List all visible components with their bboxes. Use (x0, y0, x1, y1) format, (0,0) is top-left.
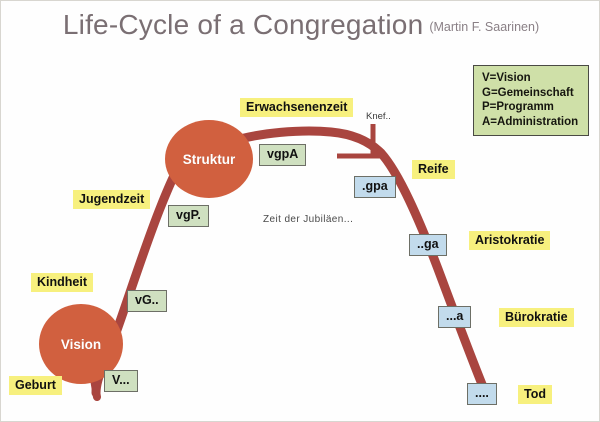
code-box-v[interactable]: V... (104, 370, 138, 392)
stage-circle-vision-label: Vision (61, 337, 101, 352)
annotation-jubilaen: Zeit der Jubiläen... (263, 214, 353, 225)
phase-label-tod[interactable]: Tod (518, 385, 552, 404)
legend-box: V=Vision G=Gemeinschaft P=Programm A=Adm… (473, 65, 589, 136)
phase-label-aristokratie[interactable]: Aristokratie (469, 231, 550, 250)
code-box-none[interactable]: .... (467, 383, 497, 405)
phase-label-kindheit[interactable]: Kindheit (31, 273, 93, 292)
stage-circle-struktur-label: Struktur (183, 152, 236, 167)
phase-label-reife[interactable]: Reife (412, 160, 455, 179)
diagram-canvas: Life-Cycle of a Congregation(Martin F. S… (0, 0, 600, 422)
phase-label-geburt[interactable]: Geburt (9, 376, 62, 395)
legend-line-vision: V=Vision (482, 71, 581, 86)
curve-descending-segment (381, 153, 488, 399)
code-box-ga[interactable]: ..ga (409, 234, 447, 256)
code-box-vgp[interactable]: vgP. (168, 205, 209, 227)
legend-line-programm: P=Programm (482, 100, 581, 115)
phase-label-jugendzeit[interactable]: Jugendzeit (73, 190, 150, 209)
phase-label-erwachsenenzeit[interactable]: Erwachsenenzeit (240, 98, 353, 117)
stage-circle-struktur[interactable]: Struktur (165, 120, 253, 198)
code-box-a[interactable]: ...a (438, 306, 471, 328)
annotation-knef: Knef.. (366, 111, 391, 122)
code-box-vgpa[interactable]: vgpA (259, 144, 306, 166)
code-box-vg[interactable]: vG.. (127, 290, 167, 312)
phase-label-buerokratie[interactable]: Bürokratie (499, 308, 574, 327)
curve-plateau-segment (233, 131, 381, 153)
legend-line-gemeinschaft: G=Gemeinschaft (482, 86, 581, 101)
legend-line-administration: A=Administration (482, 115, 581, 130)
code-box-gpa[interactable]: .gpa (354, 176, 396, 198)
